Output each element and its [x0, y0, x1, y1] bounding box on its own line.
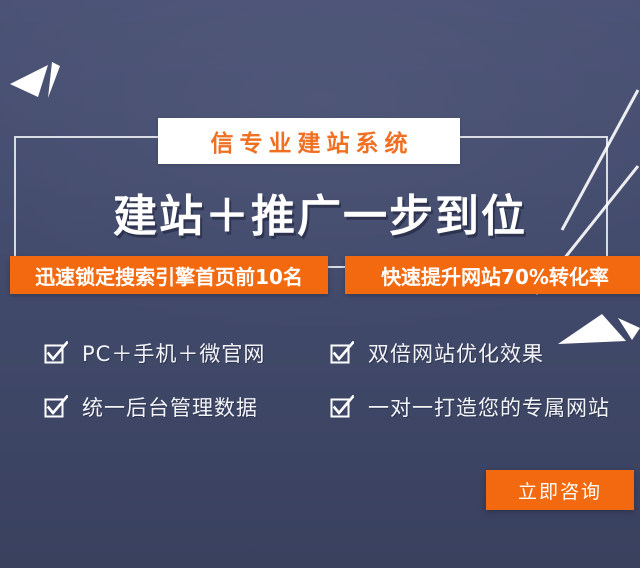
checkbox-checked-icon	[330, 395, 354, 419]
stat-bar: 快速提升网站70%转化率	[345, 256, 640, 294]
badge-title: 信专业建站系统	[205, 124, 414, 158]
list-item: 双倍网站优化效果	[330, 338, 544, 368]
list-item-label: PC＋手机＋微官网	[82, 338, 265, 368]
checkbox-checked-icon	[44, 341, 68, 365]
list-item: 一对一打造您的专属网站	[330, 392, 610, 422]
stat-bar-text: 快速提升网站70%转化率	[381, 261, 609, 290]
stat-bars: 迅速锁定搜索引擎首页前10名 快速提升网站70%转化率	[0, 256, 640, 294]
checkbox-checked-icon	[330, 341, 354, 365]
list-item-label: 双倍网站优化效果	[368, 338, 544, 368]
paper-plane-icon	[8, 52, 68, 102]
list-item: 统一后台管理数据	[44, 392, 258, 422]
promo-banner: 信专业建站系统 建站＋推广一步到位 迅速锁定搜索引擎首页前10名 快速提升网站7…	[0, 0, 640, 568]
consult-now-button[interactable]: 立即咨询	[486, 470, 634, 510]
stat-bar: 迅速锁定搜索引擎首页前10名	[10, 256, 328, 294]
list-item: PC＋手机＋微官网	[44, 338, 265, 368]
feature-list: PC＋手机＋微官网 双倍网站优化效果 统一后台管理数据	[0, 330, 640, 440]
list-item-label: 一对一打造您的专属网站	[368, 392, 610, 422]
badge-title-box: 信专业建站系统	[158, 118, 460, 164]
stat-bar-text: 迅速锁定搜索引擎首页前10名	[35, 261, 303, 290]
checkbox-checked-icon	[44, 395, 68, 419]
page-title: 建站＋推广一步到位	[0, 180, 640, 244]
list-item-label: 统一后台管理数据	[82, 392, 258, 422]
